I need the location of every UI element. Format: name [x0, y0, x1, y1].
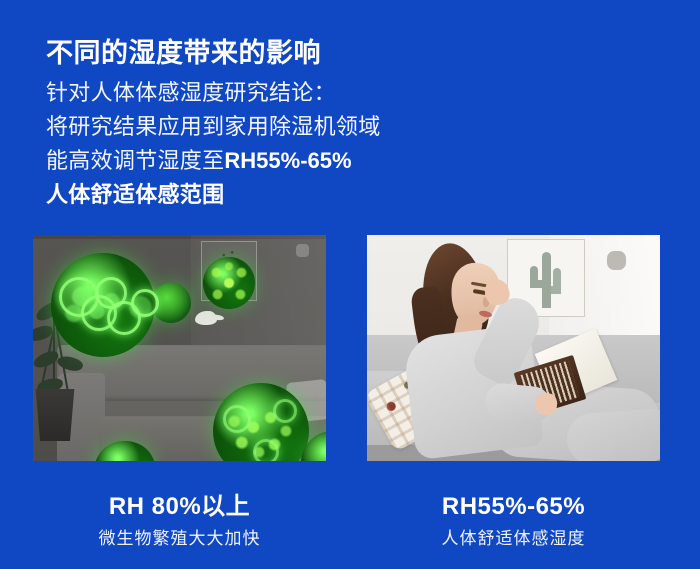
body-line-1: 针对人体体感湿度研究结论： — [46, 76, 506, 110]
dark-room-photo — [33, 235, 326, 461]
microbe-ring — [223, 405, 251, 433]
photo-panel-high-humidity — [33, 235, 326, 461]
plant-leaf — [56, 353, 85, 373]
caption-comfort-humidity: RH55%-65% 人体舒适体感湿度 — [367, 492, 660, 550]
body-line-2: 将研究结果应用到家用除湿机领域 — [46, 110, 506, 144]
light-room-photo — [367, 235, 660, 461]
caption-subtitle: 人体舒适体感湿度 — [367, 528, 660, 550]
caption-title: RH 80%以上 — [33, 492, 326, 522]
caption-title: RH55%-65% — [367, 492, 660, 522]
photo-panel-comfort-humidity — [367, 235, 660, 461]
body-line-3: 能高效调节湿度至RH55%-65% — [46, 144, 506, 178]
microbe-ring — [273, 399, 297, 423]
wall-sensor-icon — [296, 244, 309, 257]
body-line-4: 人体舒适体感范围 — [46, 178, 506, 212]
woman-hand-on-book — [535, 393, 557, 415]
woman-reading — [367, 235, 660, 461]
comparison-panels — [0, 235, 700, 461]
microbe-sphere-medium — [203, 257, 255, 309]
microbe-ring — [253, 439, 279, 461]
microbe-ring — [131, 289, 159, 317]
plant-pot — [33, 389, 77, 441]
page-title: 不同的湿度带来的影响 — [46, 36, 321, 70]
body-copy: 针对人体体感湿度研究结论： 将研究结果应用到家用除湿机领域 能高效调节湿度至RH… — [46, 76, 506, 212]
bird-ornament-icon — [195, 311, 217, 325]
promo-page: 不同的湿度带来的影响 针对人体体感湿度研究结论： 将研究结果应用到家用除湿机领域… — [0, 0, 700, 569]
woman-lower-legs — [565, 407, 660, 461]
body-line-3-emphasis: RH55%-65% — [224, 148, 351, 173]
caption-high-humidity: RH 80%以上 微生物繁殖大大加快 — [33, 492, 326, 550]
microbe-sphere-large — [51, 253, 155, 357]
body-line-3-prefix: 能高效调节湿度至 — [46, 148, 224, 173]
caption-subtitle: 微生物繁殖大大加快 — [33, 528, 326, 550]
